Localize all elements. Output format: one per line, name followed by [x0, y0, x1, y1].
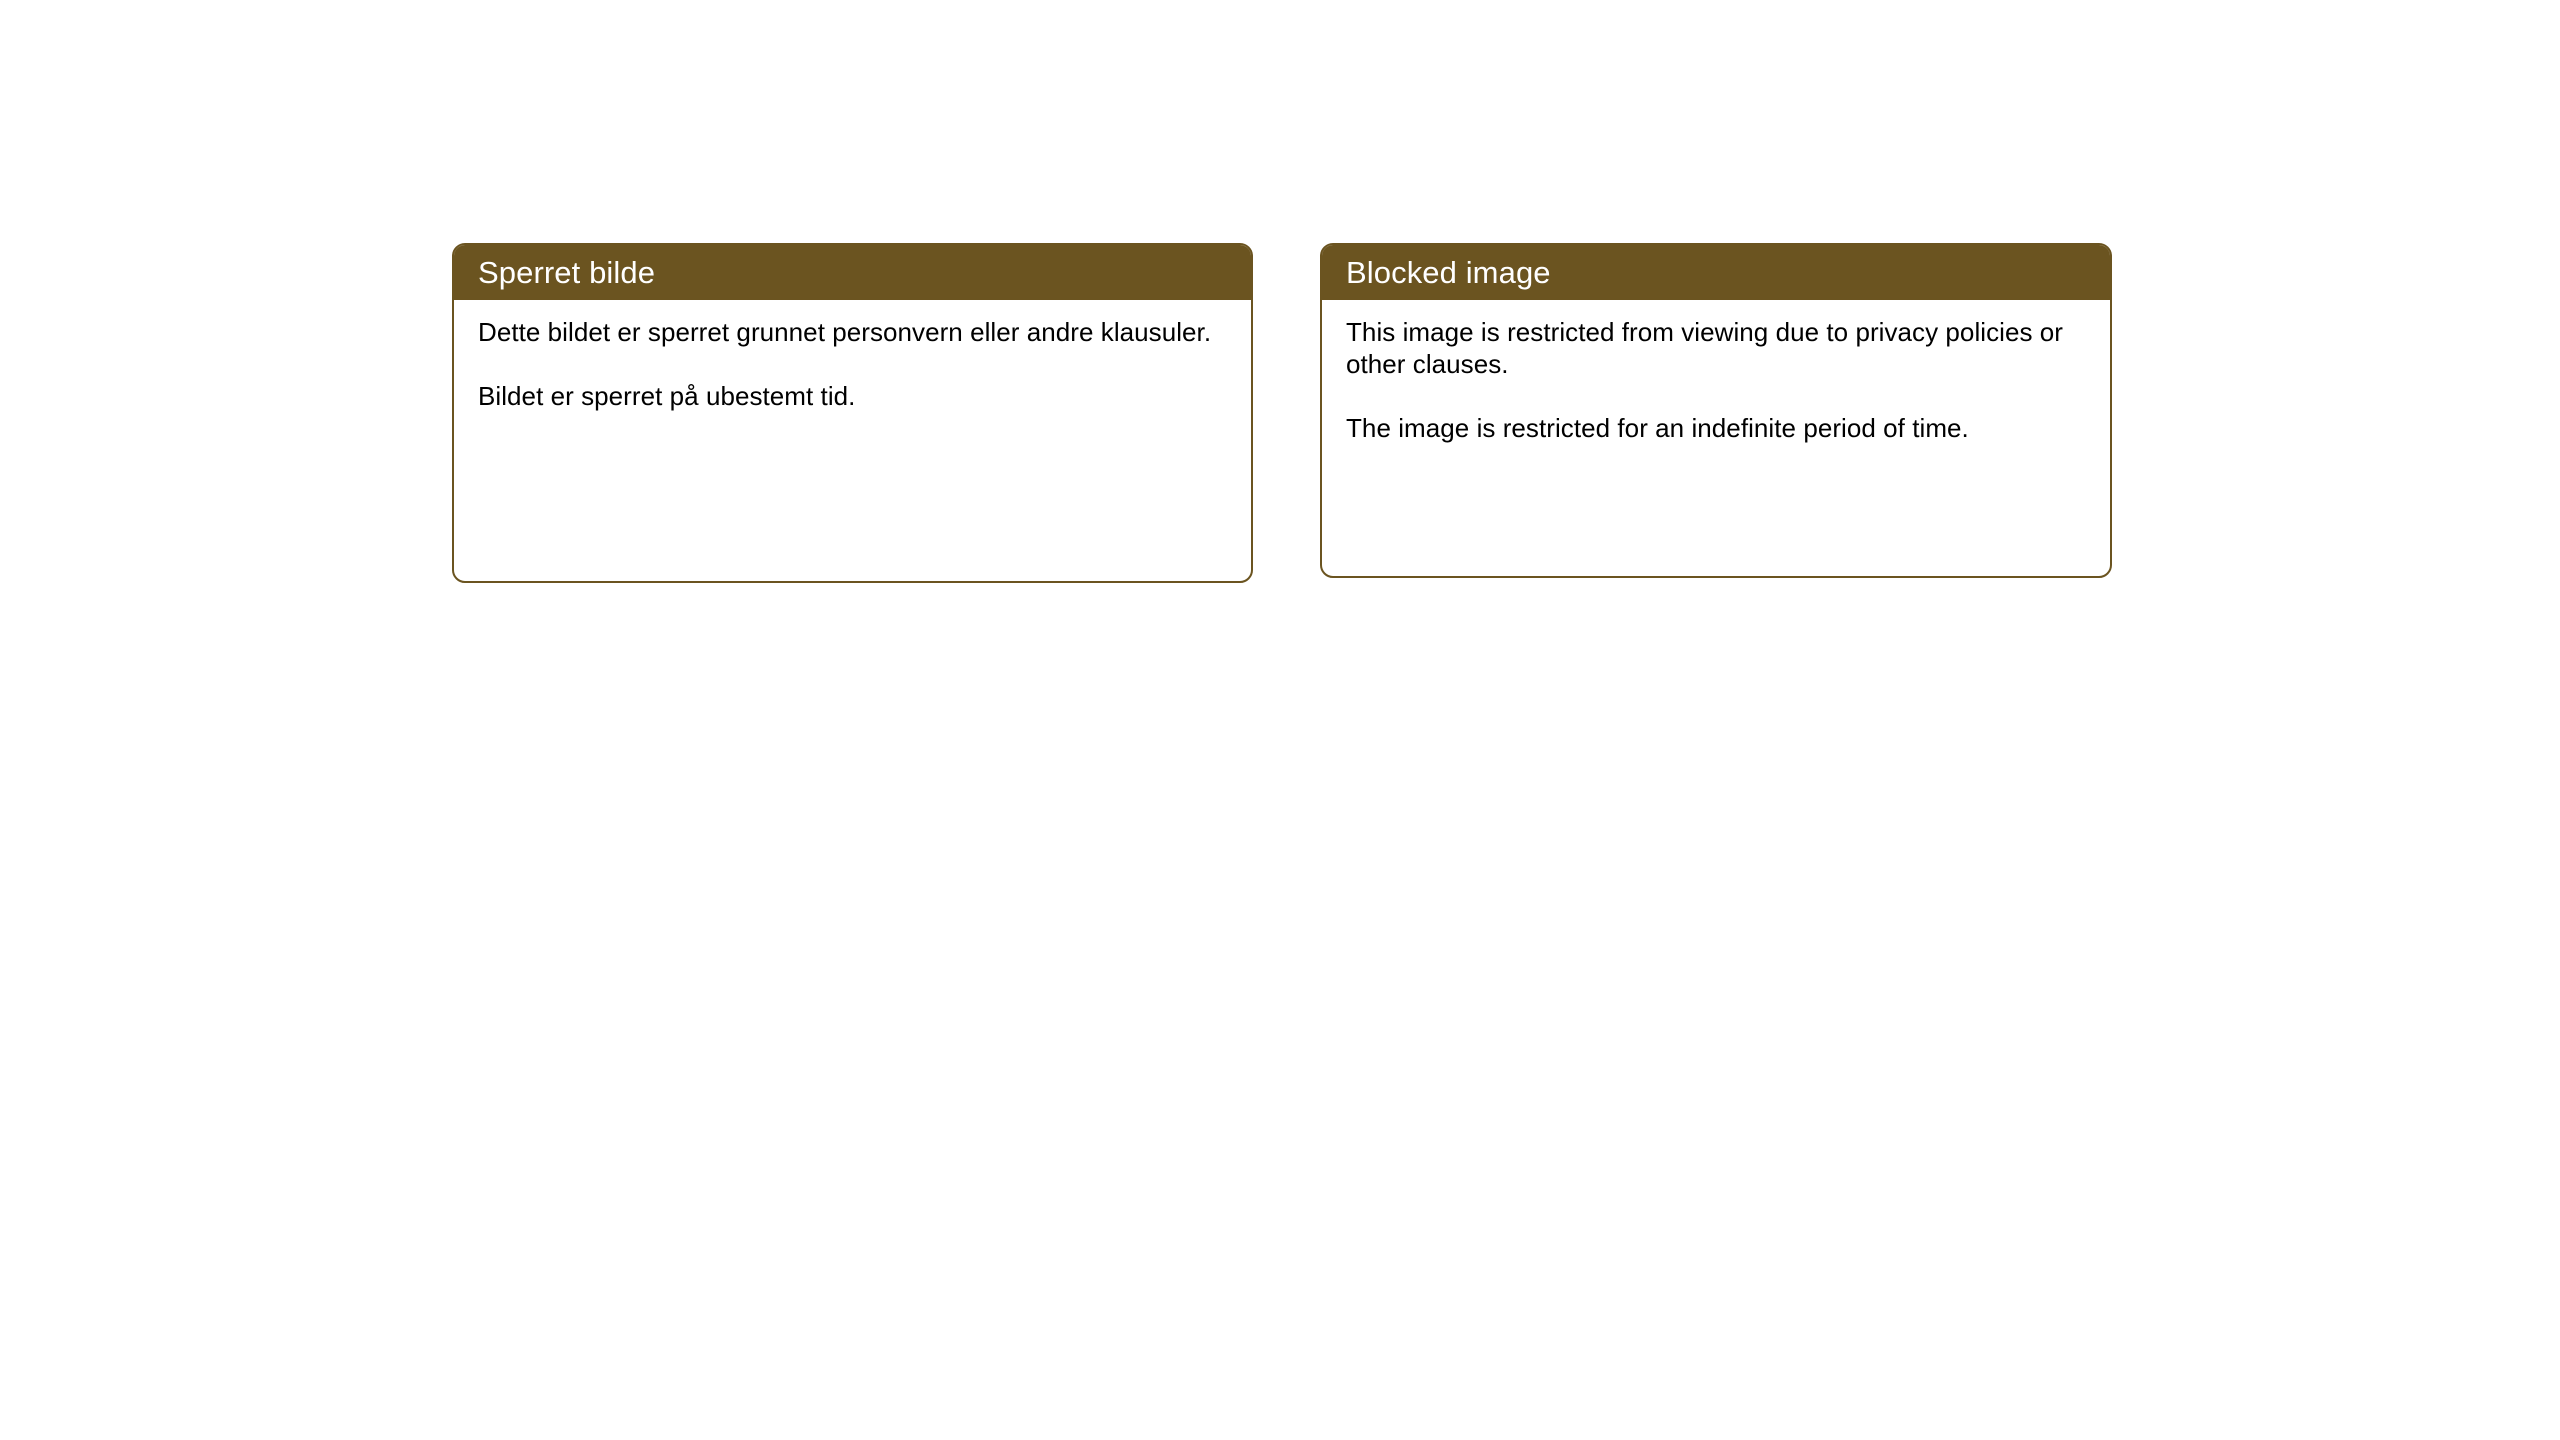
- blocked-image-notice-panel-norwegian: Sperret bilde Dette bildet er sperret gr…: [452, 243, 1253, 583]
- restriction-duration-text-english: The image is restricted for an indefinit…: [1346, 412, 2088, 444]
- page-root: Sperret bilde Dette bildet er sperret gr…: [0, 0, 2560, 1440]
- restriction-reason-text-english: This image is restricted from viewing du…: [1346, 316, 2088, 380]
- panel-title-english: Blocked image: [1346, 257, 1551, 288]
- restriction-duration-text-norwegian: Bildet er sperret på ubestemt tid.: [478, 380, 1229, 412]
- panel-header-norwegian: Sperret bilde: [454, 245, 1251, 300]
- restriction-reason-text-norwegian: Dette bildet er sperret grunnet personve…: [478, 316, 1229, 348]
- panel-body-english: This image is restricted from viewing du…: [1322, 300, 2110, 444]
- panel-body-norwegian: Dette bildet er sperret grunnet personve…: [454, 300, 1251, 412]
- panel-header-english: Blocked image: [1322, 245, 2110, 300]
- panel-title-norwegian: Sperret bilde: [478, 257, 655, 288]
- blocked-image-notice-panel-english: Blocked image This image is restricted f…: [1320, 243, 2112, 578]
